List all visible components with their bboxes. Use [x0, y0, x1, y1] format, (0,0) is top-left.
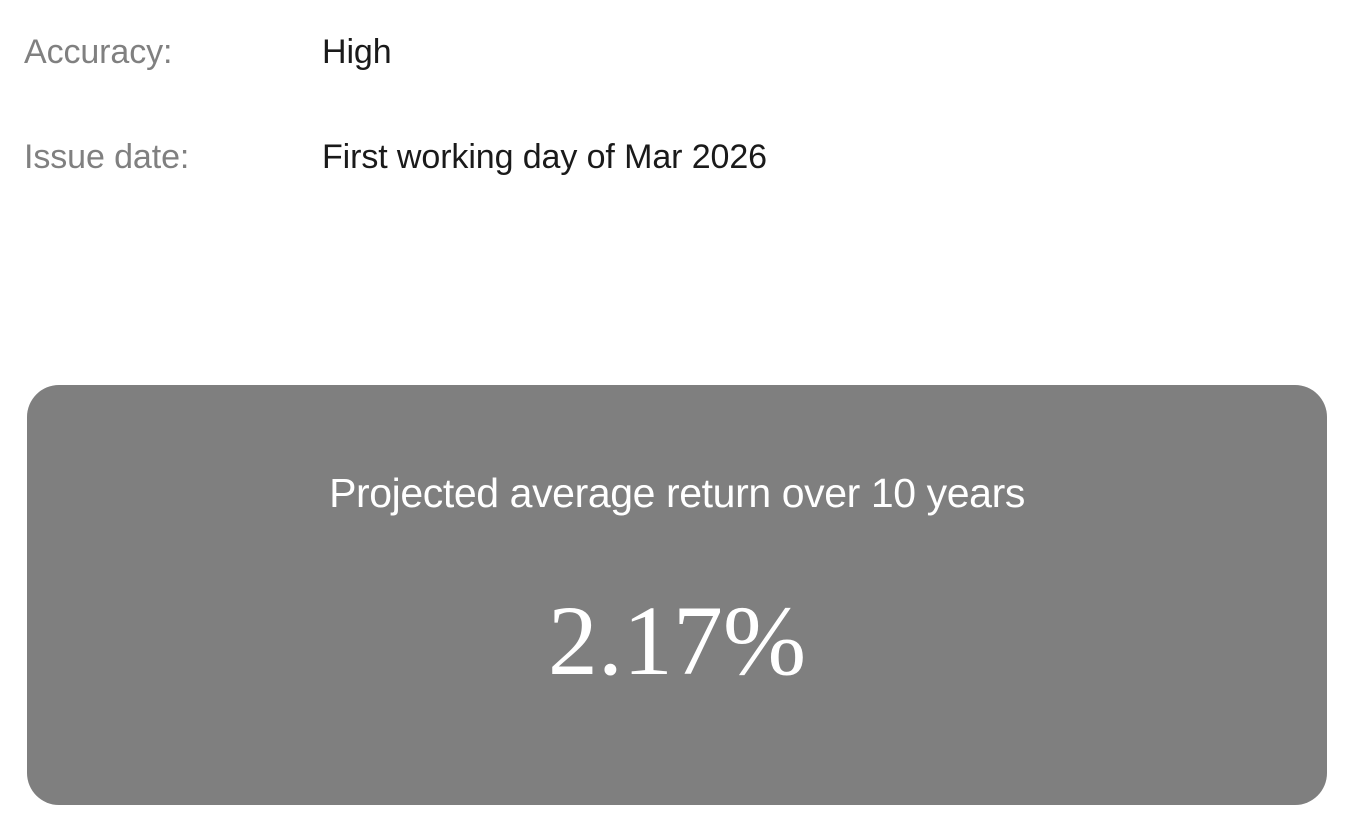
page-root: Accuracy: High Issue date: First working…	[0, 0, 1367, 839]
detail-value-issue-date: First working day of Mar 2026	[322, 105, 767, 210]
detail-list: Accuracy: High Issue date: First working…	[24, 0, 1324, 210]
projected-return-heading: Projected average return over 10 years	[27, 469, 1327, 517]
projected-return-card: Projected average return over 10 years 2…	[27, 385, 1327, 805]
detail-row-accuracy: Accuracy: High	[24, 0, 1324, 105]
detail-label-issue-date: Issue date:	[24, 105, 322, 210]
detail-value-accuracy: High	[322, 0, 392, 105]
projected-return-value: 2.17%	[27, 591, 1327, 691]
detail-label-accuracy: Accuracy:	[24, 0, 322, 105]
detail-row-issue-date: Issue date: First working day of Mar 202…	[24, 105, 1324, 210]
